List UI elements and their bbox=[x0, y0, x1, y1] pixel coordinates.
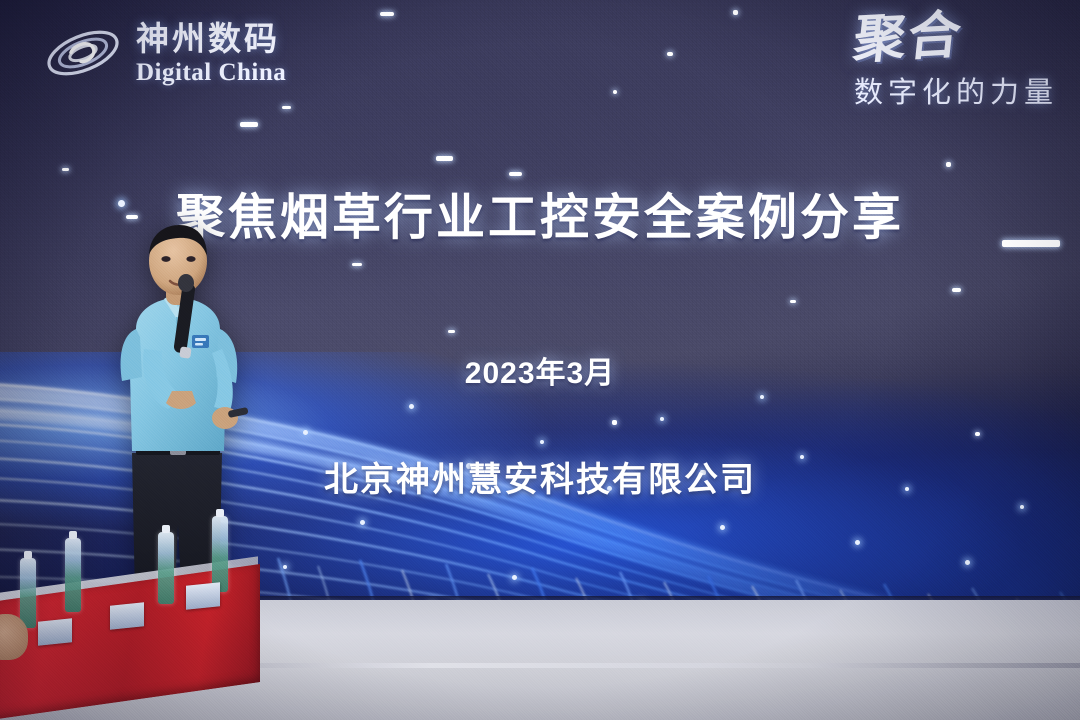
screen-particle bbox=[952, 288, 961, 292]
digital-china-brand: 神州数码 Digital China bbox=[44, 18, 286, 88]
name-card bbox=[110, 602, 144, 630]
screen-particle bbox=[509, 172, 522, 176]
wave-spark bbox=[360, 520, 365, 525]
screen-particle bbox=[667, 52, 673, 56]
wave-spark bbox=[1020, 505, 1024, 509]
brand-name-en: Digital China bbox=[136, 60, 286, 85]
water-bottle bbox=[212, 516, 228, 592]
name-card bbox=[38, 618, 72, 646]
wave-spark bbox=[760, 395, 764, 399]
water-bottle bbox=[20, 558, 36, 628]
screen-particle bbox=[380, 12, 394, 16]
judges-table bbox=[0, 560, 290, 720]
event-calligraphy: 聚合 bbox=[851, 11, 965, 66]
screen-particle bbox=[240, 122, 258, 127]
screen-particle bbox=[352, 263, 362, 266]
wave-spark bbox=[540, 440, 544, 444]
wave-spark bbox=[660, 417, 664, 421]
screen-particle bbox=[613, 90, 617, 94]
screen-particle bbox=[946, 162, 951, 167]
wave-spark bbox=[720, 525, 725, 530]
digital-china-wordmark: 神州数码 Digital China bbox=[136, 22, 286, 85]
event-subtitle: 数字化的力量 bbox=[854, 69, 1058, 111]
digital-china-swirl-icon bbox=[44, 18, 122, 88]
screen-particle bbox=[612, 420, 617, 425]
water-bottle bbox=[65, 538, 81, 612]
screen-particle bbox=[282, 106, 291, 109]
screen-particle bbox=[448, 330, 455, 333]
screen-particle bbox=[733, 10, 738, 15]
screen-particle bbox=[62, 168, 69, 171]
brand-name-cn: 神州数码 bbox=[136, 22, 286, 55]
screen-particle bbox=[975, 432, 980, 436]
wave-spark bbox=[965, 560, 970, 565]
wave-spark bbox=[409, 404, 414, 409]
wave-spark bbox=[855, 540, 860, 545]
wave-spark bbox=[303, 430, 308, 435]
company-badge-icon bbox=[192, 335, 209, 348]
event-logo: 聚合 数字化的力量 bbox=[854, 14, 1058, 111]
water-bottle bbox=[158, 532, 174, 604]
screen-particle bbox=[436, 156, 453, 161]
stage-photo: 神州数码 Digital China 聚合 数字化的力量 聚焦烟草行业工控安全案… bbox=[0, 0, 1080, 720]
wave-spark bbox=[512, 575, 517, 580]
screen-particle bbox=[790, 300, 796, 303]
name-card bbox=[186, 582, 220, 610]
